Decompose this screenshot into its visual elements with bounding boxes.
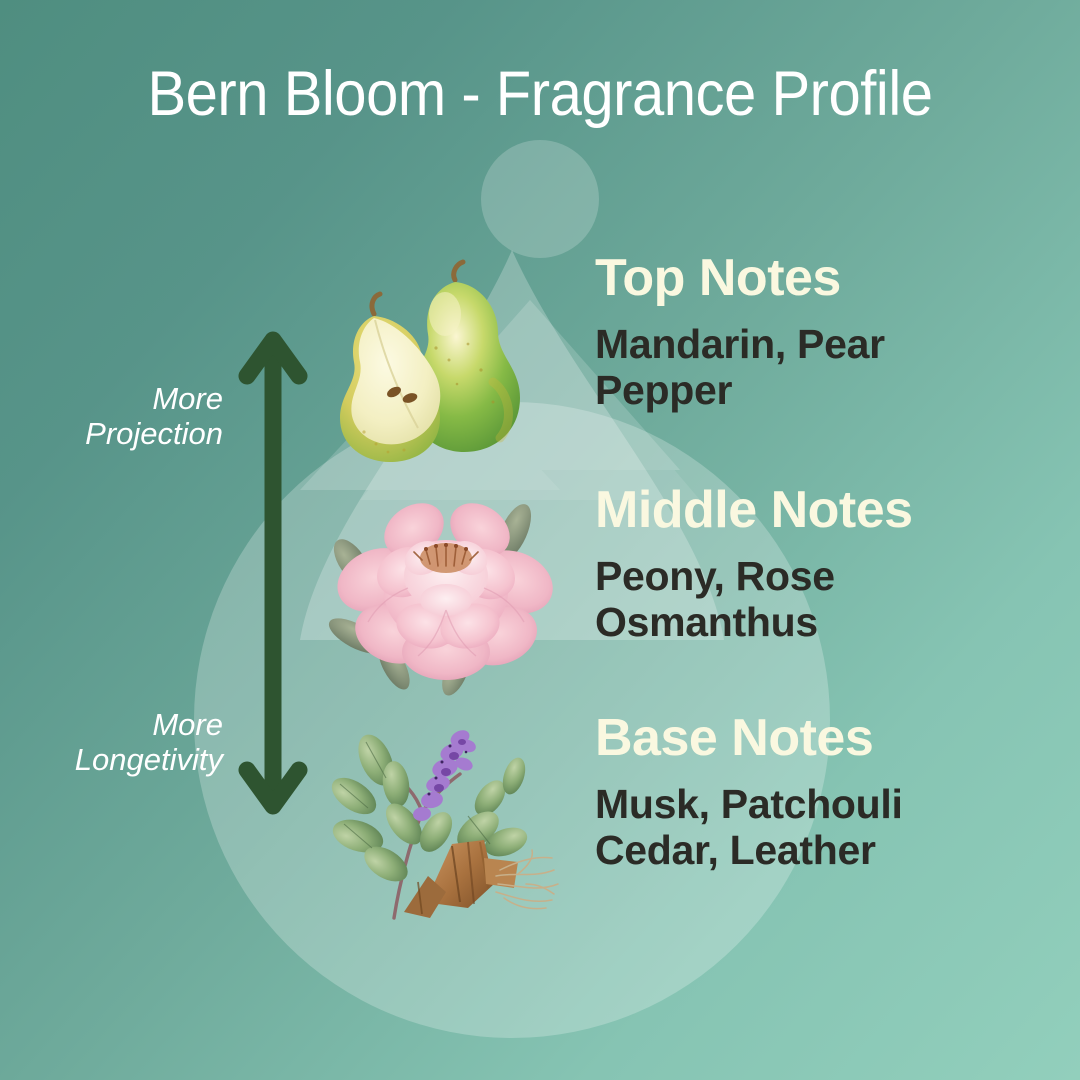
- note-text-base: Base Notes Musk, Patchouli Cedar, Leathe…: [595, 712, 1065, 874]
- note-heading-base: Base Notes: [595, 712, 1065, 764]
- note-item-line-2: Pepper: [595, 368, 1065, 414]
- half-pear: [340, 294, 440, 462]
- note-items-middle: Peony, Rose Osmanthus: [595, 554, 1065, 646]
- patchouli-cedar-illustration-icon: [318, 712, 578, 927]
- note-item-line-2: Osmanthus: [595, 600, 1065, 646]
- note-heading-middle: Middle Notes: [595, 484, 1065, 536]
- note-item-line-2: Cedar, Leather: [595, 828, 1065, 874]
- note-items-top: Mandarin, Pear Pepper: [595, 322, 1065, 414]
- note-item-line-1: Mandarin, Pear: [595, 322, 1065, 368]
- axis-label-longevity-line1: More: [18, 708, 223, 743]
- note-item-line-1: Musk, Patchouli: [595, 782, 1065, 828]
- accent-circle: [481, 140, 599, 258]
- patchouli-flowers: [412, 727, 477, 822]
- note-item-line-1: Peony, Rose: [595, 554, 1065, 600]
- axis-label-projection: More Projection: [18, 382, 223, 451]
- pear-illustration-icon: [318, 252, 578, 467]
- note-heading-top: Top Notes: [595, 252, 1065, 304]
- axis-label-projection-line1: More: [18, 382, 223, 417]
- double-headed-vertical-arrow-icon: [238, 318, 308, 833]
- note-items-base: Musk, Patchouli Cedar, Leather: [595, 782, 1065, 874]
- note-text-middle: Middle Notes Peony, Rose Osmanthus: [595, 484, 1065, 646]
- axis-label-projection-line2: Projection: [18, 417, 223, 452]
- intensity-axis: More Projection More Longetivity: [0, 0, 360, 1080]
- axis-label-longevity-line2: Longetivity: [18, 743, 223, 778]
- note-text-top: Top Notes Mandarin, Pear Pepper: [595, 252, 1065, 414]
- peony-flower-illustration-icon: [318, 484, 578, 699]
- axis-label-longevity: More Longetivity: [18, 708, 223, 777]
